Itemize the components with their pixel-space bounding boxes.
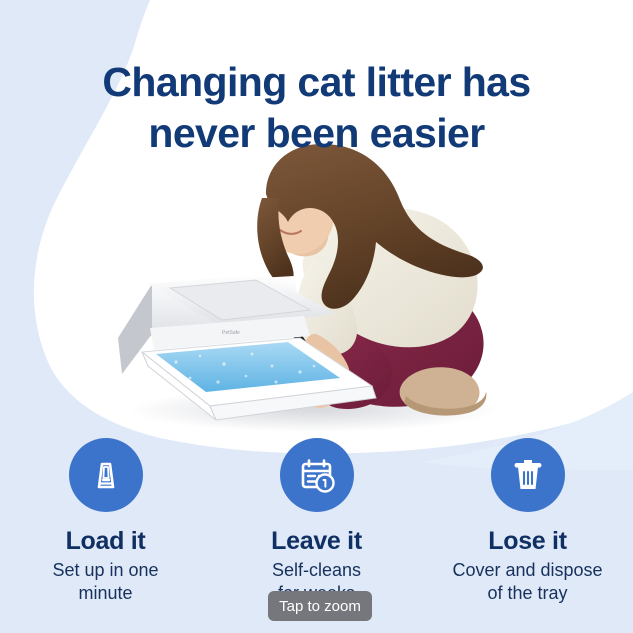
feature-subtitle-line-1: Cover and dispose	[452, 560, 602, 580]
tap-to-zoom-tooltip[interactable]: Tap to zoom	[268, 591, 372, 621]
feature-title: Leave it	[271, 528, 362, 555]
feature-icon-badge	[69, 438, 143, 512]
feature-icon-badge	[280, 438, 354, 512]
feature-title: Lose it	[488, 528, 566, 555]
feature-subtitle: Set up in one minute	[52, 559, 158, 605]
feature-subtitle: Cover and dispose of the tray	[452, 559, 602, 605]
page-title: Changing cat litter has never been easie…	[0, 57, 633, 159]
calendar-one-icon	[295, 453, 339, 497]
feature-icon-badge	[491, 438, 565, 512]
feature-subtitle-line-1: Self-cleans	[272, 560, 361, 580]
headline-line-2: never been easier	[0, 108, 633, 159]
product-image-card: Changing cat litter has never been easie…	[0, 0, 633, 633]
brand-text: PetSafe	[222, 330, 240, 336]
feature-subtitle-line-1: Set up in one	[52, 560, 158, 580]
trash-can-icon	[506, 453, 550, 497]
feature-subtitle-line-2: of the tray	[452, 582, 602, 605]
feature-load-it[interactable]: Load it Set up in one minute	[0, 434, 211, 633]
feature-subtitle-line-2: minute	[52, 582, 158, 605]
feature-title: Load it	[66, 528, 146, 555]
headline-line-1: Changing cat litter has	[102, 59, 530, 105]
feature-lose-it[interactable]: Lose it Cover and dispose of the tray	[422, 434, 633, 633]
litter-tray-icon	[84, 453, 128, 497]
hero-photo: PetSafe	[104, 138, 512, 434]
